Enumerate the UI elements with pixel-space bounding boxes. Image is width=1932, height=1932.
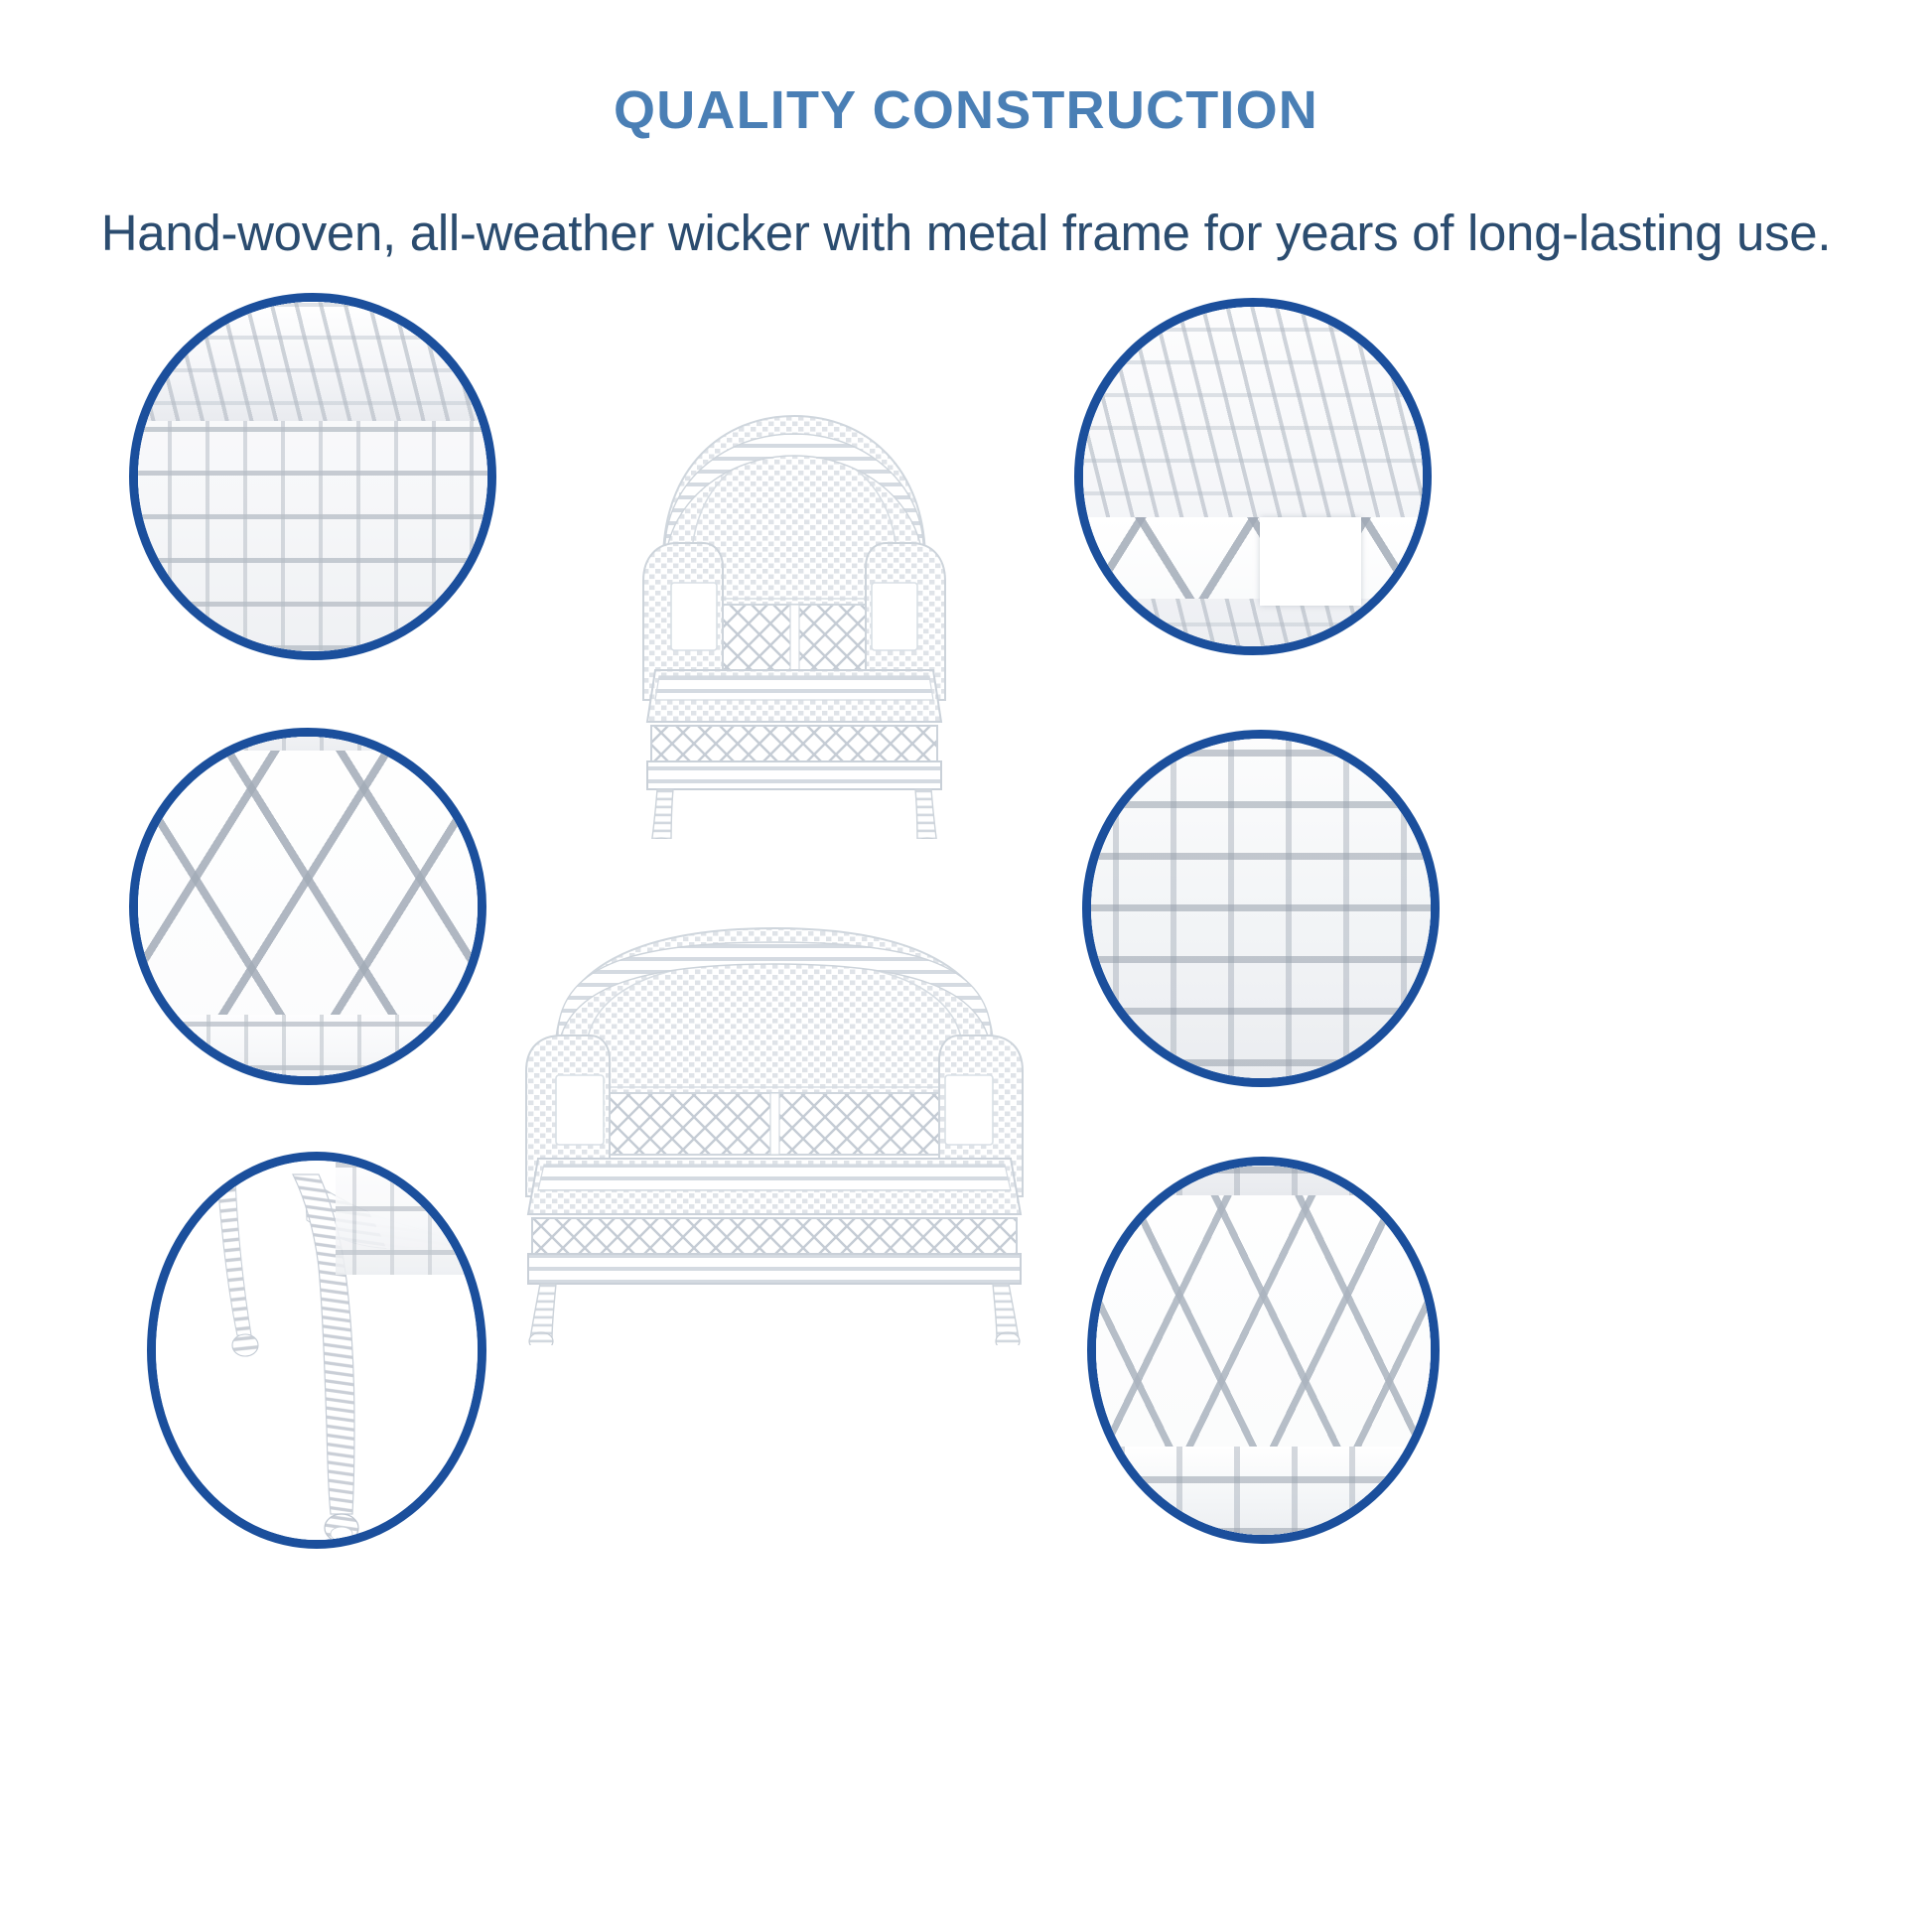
detail-circle-bottom-right <box>1087 1157 1440 1544</box>
leg-haunch-weave-icon <box>336 1161 486 1275</box>
page-subtitle: Hand-woven, all-weather wicker with meta… <box>0 204 1932 262</box>
lattice-top-rail-band-icon <box>129 728 486 751</box>
page-title: QUALITY CONSTRUCTION <box>0 79 1932 141</box>
detail-circle-top-right <box>1074 298 1432 655</box>
xlattice-bottom-rail-band-icon <box>1087 1447 1440 1544</box>
chair-back-weave-closeup-icon <box>1074 298 1432 655</box>
white-wicker-armchair-icon <box>596 372 993 839</box>
wicker-fine-weave-band-icon <box>129 302 496 421</box>
chair-back-lattice-band-icon <box>1074 517 1432 599</box>
product-chair <box>596 372 993 839</box>
detail-circle-middle-right <box>1082 730 1440 1087</box>
xlattice-top-rail-band-icon <box>1087 1157 1440 1195</box>
detail-circle-middle-left <box>129 728 486 1085</box>
cushion-patch <box>1260 517 1362 606</box>
product-loveseat <box>486 898 1062 1345</box>
detail-circle-bottom-left <box>147 1152 486 1549</box>
white-wicker-loveseat-icon <box>486 898 1062 1345</box>
header: QUALITY CONSTRUCTION Hand-woven, all-wea… <box>0 0 1932 298</box>
lattice-bottom-rail-band-icon <box>129 1015 486 1085</box>
detail-circle-top-left <box>129 293 496 660</box>
herringbone-weave-closeup-icon <box>1082 730 1440 1087</box>
